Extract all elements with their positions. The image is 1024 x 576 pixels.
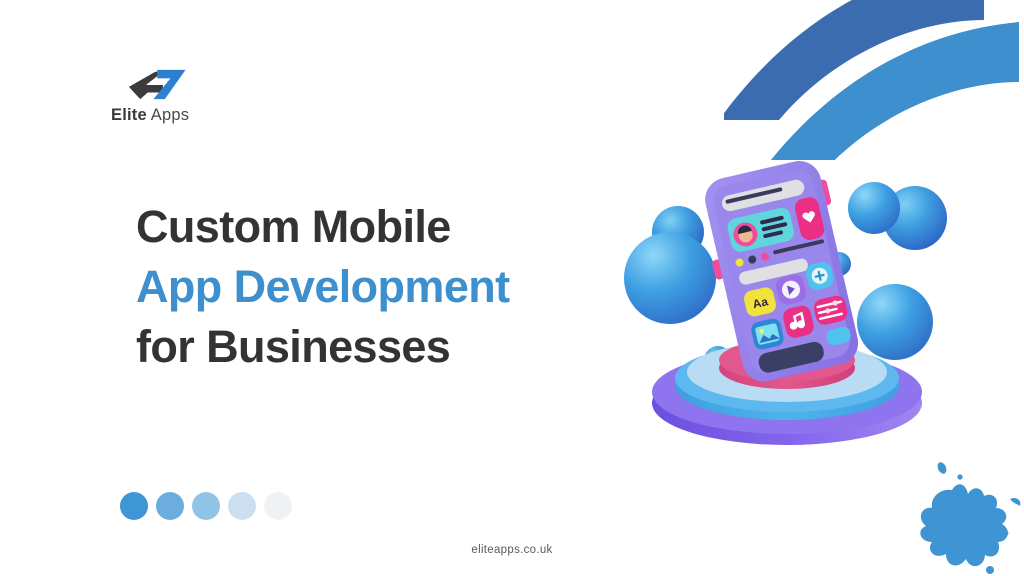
- footer-website-url[interactable]: eliteapps.co.uk: [0, 544, 1024, 556]
- dot-4[interactable]: [228, 492, 256, 520]
- brand-name-regular: Apps: [147, 106, 189, 124]
- dot-1[interactable]: [120, 492, 148, 520]
- brand-logo[interactable]: Elite Apps: [111, 68, 241, 125]
- sphere-cluster-left: [624, 206, 716, 324]
- poster-canvas: Elite Apps Custom Mobile App Development…: [0, 0, 1024, 576]
- paint-splatter-decoration: [914, 456, 1024, 576]
- brand-name: Elite Apps: [111, 106, 241, 125]
- decorative-arc-group: [724, 0, 1024, 160]
- brand-name-bold: Elite: [111, 106, 147, 124]
- dot-3[interactable]: [192, 492, 220, 520]
- arc-inner: [754, 22, 1019, 160]
- hero-illustration: Aa: [612, 150, 972, 460]
- headline-line-1: Custom Mobile: [136, 197, 510, 257]
- elite-apps-logo-mark: [127, 68, 197, 102]
- logo-mark-blue-seven: [153, 70, 185, 99]
- page-title: Custom Mobile App Development for Busine…: [136, 197, 510, 377]
- headline-line-2: App Development: [136, 257, 510, 317]
- headline-line-3: for Businesses: [136, 317, 510, 377]
- progress-dots: [120, 492, 292, 520]
- arc-outer: [724, 0, 984, 120]
- dot-2[interactable]: [156, 492, 184, 520]
- dot-5[interactable]: [264, 492, 292, 520]
